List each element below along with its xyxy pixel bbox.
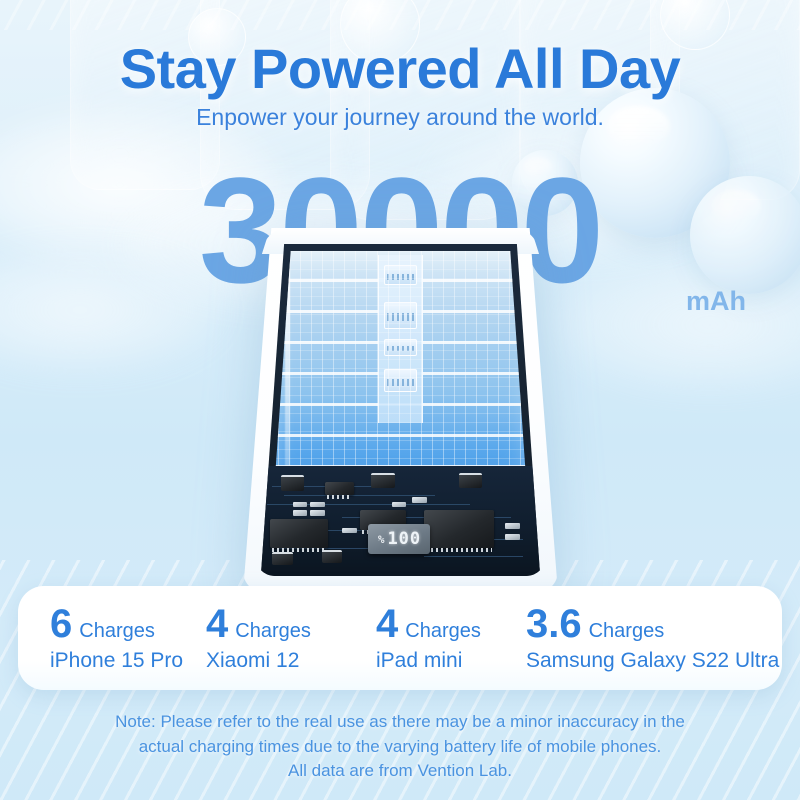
battery-cell-stack xyxy=(267,251,535,483)
resistor xyxy=(342,528,357,533)
battery-connector xyxy=(384,369,417,392)
resistor xyxy=(293,510,308,515)
stat-count: 4 xyxy=(206,604,228,644)
resistor xyxy=(310,510,325,515)
stat-item-iphone: 6 Charges iPhone 15 Pro xyxy=(32,604,204,673)
stat-count: 6 xyxy=(50,604,72,644)
stat-device-name: Xiaomi 12 xyxy=(206,649,372,673)
resistor xyxy=(310,502,325,507)
resistor xyxy=(412,497,427,502)
stat-unit: Charges xyxy=(589,620,665,643)
stat-unit: Charges xyxy=(405,620,481,643)
capacitor xyxy=(281,475,304,490)
battery-connector xyxy=(384,302,417,329)
note-line-2: actual charging times due to the varying… xyxy=(50,735,750,760)
charge-stats-card: 6 Charges iPhone 15 Pro 4 Charges Xiaomi… xyxy=(18,586,782,690)
stat-item-ipad: 4 Charges iPad mini xyxy=(374,604,524,673)
stat-headline: 3.6 Charges xyxy=(526,604,780,644)
stat-unit: Charges xyxy=(79,620,155,643)
stat-device-name: iPhone 15 Pro xyxy=(50,649,202,673)
stat-unit: Charges xyxy=(235,620,311,643)
stat-headline: 6 Charges xyxy=(50,604,202,644)
pcb-trace xyxy=(424,556,523,557)
battery-connector xyxy=(384,339,417,356)
ic-chip xyxy=(325,482,354,495)
stat-device-name: iPad mini xyxy=(376,649,522,673)
resistor xyxy=(505,523,520,528)
resistor xyxy=(505,534,520,539)
capacitor xyxy=(459,473,482,488)
stat-count: 4 xyxy=(376,604,398,644)
capacity-unit: mAh xyxy=(686,286,746,317)
battery-percentage-display: % 100 xyxy=(368,524,430,554)
stat-item-xiaomi: 4 Charges Xiaomi 12 xyxy=(204,604,374,673)
percent-value: 100 xyxy=(387,529,421,549)
capacitor xyxy=(272,552,292,565)
stat-item-samsung: 3.6 Charges Samsung Galaxy S22 Ultra xyxy=(524,604,782,673)
battery-connector xyxy=(384,265,417,285)
capacitor xyxy=(322,550,342,563)
diagonal-stripe-pattern xyxy=(0,0,800,30)
resistor xyxy=(293,502,308,507)
circuit-board: % 100 xyxy=(255,466,546,576)
connector-channel xyxy=(378,255,424,422)
power-bank-interior: % 100 xyxy=(255,244,546,576)
cell-highlight xyxy=(285,255,290,478)
pcb-trace xyxy=(284,495,435,496)
power-bank-product-image: % 100 xyxy=(243,228,558,593)
ic-chip xyxy=(270,519,328,547)
note-line-3: All data are from Vention Lab. xyxy=(50,759,750,784)
percent-symbol: % xyxy=(378,533,385,546)
stat-headline: 4 Charges xyxy=(206,604,372,644)
promo-banner: Stay Powered All Day Enpower your journe… xyxy=(0,0,800,800)
subheadline: Enpower your journey around the world. xyxy=(0,104,800,131)
note-line-1: Note: Please refer to the real use as th… xyxy=(50,710,750,735)
resistor xyxy=(392,502,407,507)
disclaimer-note: Note: Please refer to the real use as th… xyxy=(0,710,800,784)
headline: Stay Powered All Day xyxy=(0,36,800,101)
stat-device-name: Samsung Galaxy S22 Ultra xyxy=(526,649,780,673)
stat-count: 3.6 xyxy=(526,604,582,644)
stat-headline: 4 Charges xyxy=(376,604,522,644)
ic-chip xyxy=(424,510,494,547)
capacitor xyxy=(371,473,394,488)
